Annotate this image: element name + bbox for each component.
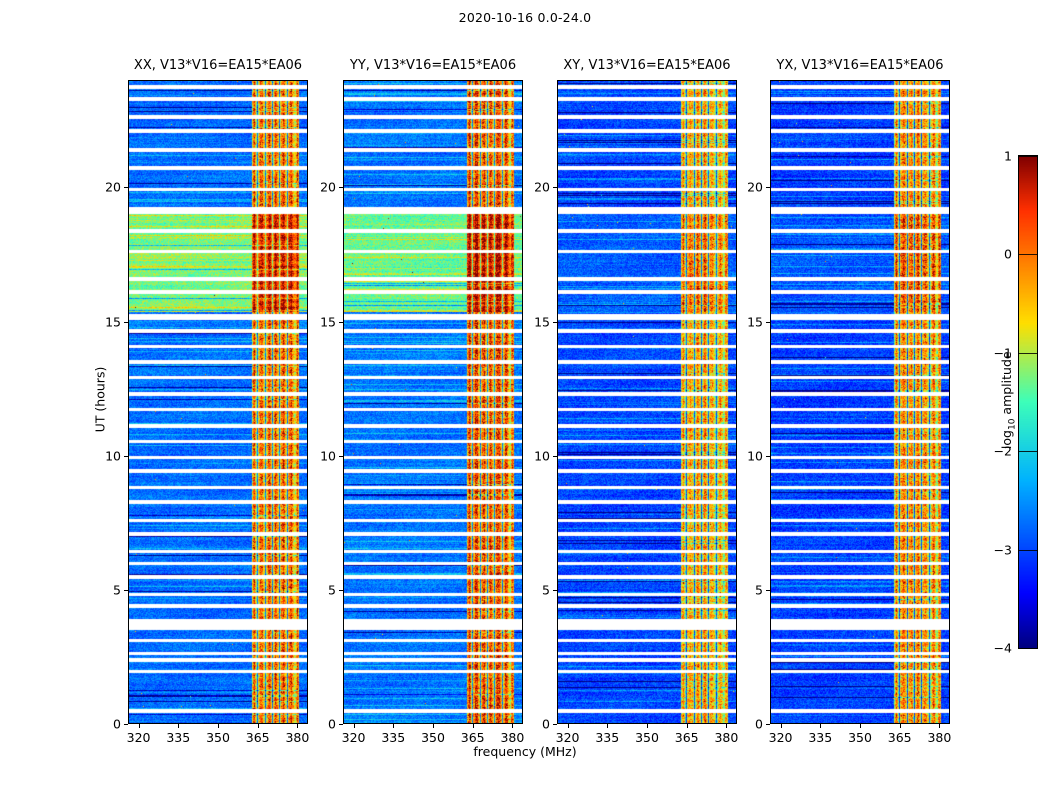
y-tick-mark xyxy=(339,724,343,725)
y-tick-label: 15 xyxy=(730,314,763,329)
panel-yx[interactable]: YX, V13*V16=EA15*EA06 xyxy=(770,80,950,724)
panel-xx[interactable]: XX, V13*V16=EA15*EA06 xyxy=(128,80,308,724)
y-tick-mark xyxy=(339,322,343,323)
y-tick-label: 5 xyxy=(517,582,550,597)
x-tick-label: 365 xyxy=(246,730,270,745)
y-tick-mark xyxy=(553,322,557,323)
x-tick-label: 335 xyxy=(166,730,190,745)
colorbar-tick-mark xyxy=(1018,550,1038,551)
y-tick-label: 15 xyxy=(303,314,336,329)
y-tick-label: 0 xyxy=(88,717,121,732)
y-axis-label: UT (hours) xyxy=(93,320,108,480)
x-tick-mark xyxy=(297,724,298,728)
y-tick-label: 20 xyxy=(88,180,121,195)
y-tick-mark xyxy=(766,322,770,323)
x-axis-label: frequency (MHz) xyxy=(0,744,1050,759)
figure-suptitle: 2020-10-16 0.0-24.0 xyxy=(0,10,1050,25)
x-tick-mark xyxy=(433,724,434,728)
panel-xy[interactable]: XY, V13*V16=EA15*EA06 xyxy=(557,80,737,724)
y-tick-mark xyxy=(124,322,128,323)
x-tick-label: 350 xyxy=(421,730,445,745)
x-tick-label: 380 xyxy=(714,730,738,745)
y-tick-label: 10 xyxy=(730,448,763,463)
panel-title-yx: YX, V13*V16=EA15*EA06 xyxy=(770,58,950,73)
x-tick-label: 320 xyxy=(127,730,151,745)
x-tick-label: 320 xyxy=(769,730,793,745)
x-tick-label: 320 xyxy=(556,730,580,745)
y-tick-mark xyxy=(124,590,128,591)
colorbar-tick-label: 1 xyxy=(974,149,1012,164)
waterfall-image-yy xyxy=(344,81,523,724)
x-tick-label: 335 xyxy=(808,730,832,745)
x-tick-mark xyxy=(512,724,513,728)
waterfall-image-xx xyxy=(129,81,308,724)
y-tick-label: 20 xyxy=(730,180,763,195)
x-tick-mark xyxy=(647,724,648,728)
figure-canvas: 2020-10-16 0.0-24.0 32033535036538005101… xyxy=(0,0,1050,800)
y-tick-label: 0 xyxy=(517,717,550,732)
y-tick-mark xyxy=(553,187,557,188)
x-tick-label: 350 xyxy=(848,730,872,745)
panel-yy[interactable]: YY, V13*V16=EA15*EA06 xyxy=(343,80,523,724)
x-tick-label: 335 xyxy=(595,730,619,745)
y-tick-mark xyxy=(766,456,770,457)
x-tick-mark xyxy=(687,724,688,728)
y-tick-mark xyxy=(339,456,343,457)
x-tick-mark xyxy=(781,724,782,728)
y-tick-label: 10 xyxy=(517,448,550,463)
y-tick-mark xyxy=(124,724,128,725)
colorbar-tick-label: 0 xyxy=(974,247,1012,262)
colorbar-tick-label: −4 xyxy=(974,641,1012,656)
axes-xx[interactable] xyxy=(128,80,308,724)
y-tick-label: 5 xyxy=(303,582,336,597)
x-tick-mark xyxy=(607,724,608,728)
y-tick-label: 5 xyxy=(730,582,763,597)
x-tick-mark xyxy=(354,724,355,728)
y-tick-mark xyxy=(339,187,343,188)
x-tick-label: 380 xyxy=(927,730,951,745)
y-tick-label: 0 xyxy=(303,717,336,732)
x-tick-mark xyxy=(218,724,219,728)
x-tick-label: 380 xyxy=(500,730,524,745)
y-tick-label: 10 xyxy=(303,448,336,463)
y-tick-mark xyxy=(339,590,343,591)
x-tick-label: 365 xyxy=(675,730,699,745)
x-tick-label: 350 xyxy=(635,730,659,745)
y-tick-mark xyxy=(553,724,557,725)
y-tick-mark xyxy=(766,724,770,725)
y-tick-mark xyxy=(124,456,128,457)
x-tick-mark xyxy=(139,724,140,728)
x-tick-mark xyxy=(900,724,901,728)
colorbar-tick-mark xyxy=(1018,648,1038,649)
x-tick-mark xyxy=(820,724,821,728)
y-tick-label: 5 xyxy=(88,582,121,597)
colorbar-tick-label: −3 xyxy=(974,542,1012,557)
x-tick-label: 335 xyxy=(381,730,405,745)
y-tick-mark xyxy=(553,456,557,457)
panel-title-yy: YY, V13*V16=EA15*EA06 xyxy=(343,58,523,73)
panel-title-xy: XY, V13*V16=EA15*EA06 xyxy=(557,58,737,73)
x-tick-mark xyxy=(473,724,474,728)
colorbar-tick-mark xyxy=(1018,254,1038,255)
y-tick-mark xyxy=(766,590,770,591)
colorbar-tick-mark xyxy=(1018,353,1038,354)
x-tick-mark xyxy=(726,724,727,728)
y-tick-label: 20 xyxy=(517,180,550,195)
colorbar-gradient xyxy=(1018,155,1038,649)
y-tick-mark xyxy=(124,187,128,188)
y-tick-label: 20 xyxy=(303,180,336,195)
waterfall-image-yx xyxy=(771,81,950,724)
axes-yy[interactable] xyxy=(343,80,523,724)
x-tick-label: 365 xyxy=(888,730,912,745)
x-tick-label: 320 xyxy=(342,730,366,745)
y-tick-mark xyxy=(553,590,557,591)
x-tick-mark xyxy=(178,724,179,728)
colorbar xyxy=(1018,155,1038,649)
x-tick-mark xyxy=(258,724,259,728)
x-tick-mark xyxy=(860,724,861,728)
axes-xy[interactable] xyxy=(557,80,737,724)
colorbar-label: log10 amplitude xyxy=(999,320,1018,480)
waterfall-image-xy xyxy=(558,81,737,724)
y-tick-label: 15 xyxy=(517,314,550,329)
y-tick-label: 0 xyxy=(730,717,763,732)
x-tick-mark xyxy=(939,724,940,728)
colorbar-tick-mark xyxy=(1018,156,1038,157)
y-tick-mark xyxy=(766,187,770,188)
x-tick-label: 365 xyxy=(461,730,485,745)
axes-yx[interactable] xyxy=(770,80,950,724)
x-tick-label: 350 xyxy=(206,730,230,745)
x-tick-mark xyxy=(568,724,569,728)
x-tick-label: 380 xyxy=(285,730,309,745)
x-tick-mark xyxy=(393,724,394,728)
colorbar-tick-mark xyxy=(1018,451,1038,452)
panel-title-xx: XX, V13*V16=EA15*EA06 xyxy=(128,58,308,73)
